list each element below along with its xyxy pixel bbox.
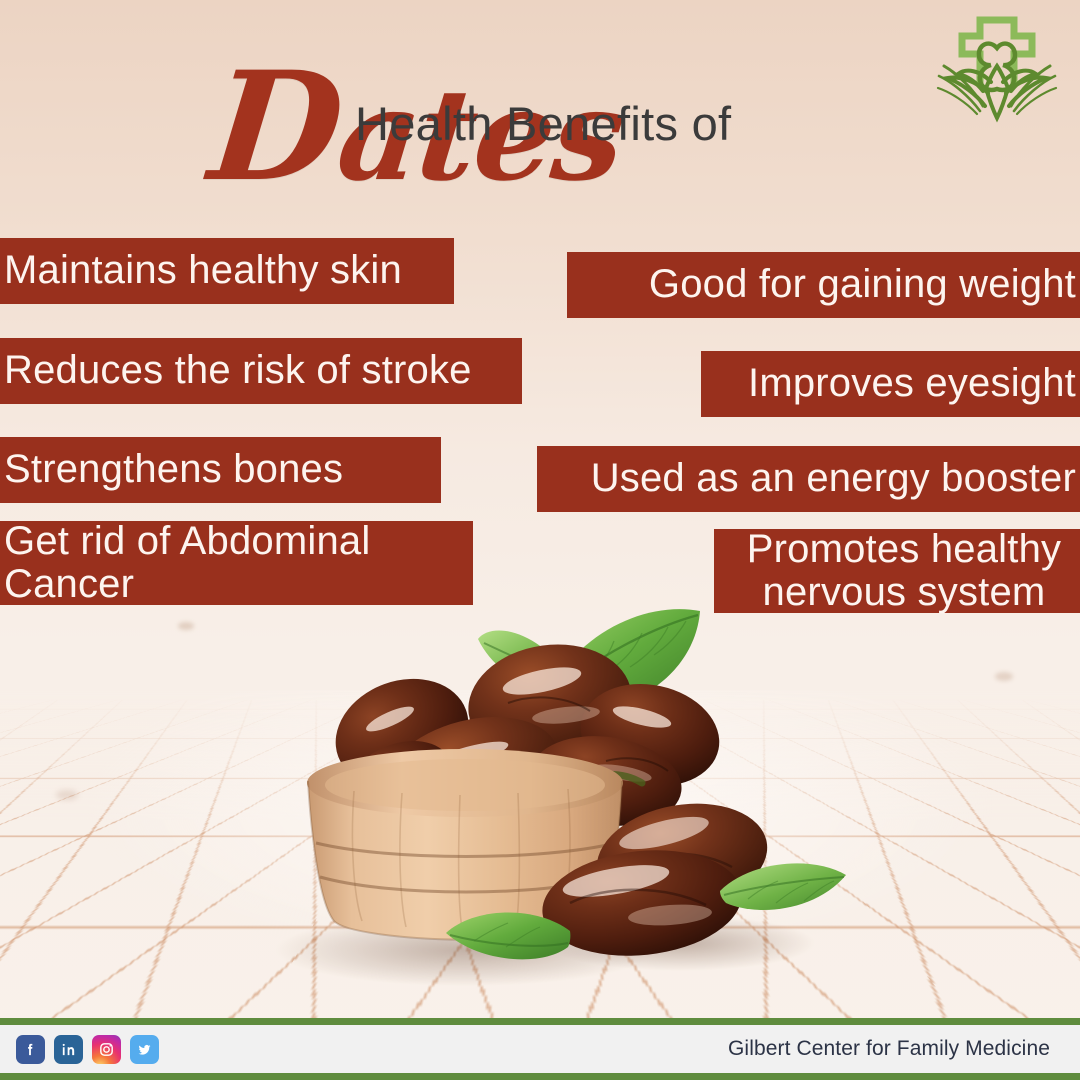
benefit-box-left-3: Strengthens bones	[0, 437, 441, 503]
dates-in-wooden-bowl-photo	[250, 585, 870, 1005]
social-links	[16, 1035, 159, 1064]
benefit-box-left-2: Reduces the risk of stroke	[0, 338, 522, 404]
benefit-box-right-3: Used as an energy booster	[537, 446, 1080, 512]
facebook-icon[interactable]	[16, 1035, 45, 1064]
footer-brand-name: Gilbert Center for Family Medicine	[728, 1037, 1050, 1061]
twitter-icon[interactable]	[130, 1035, 159, 1064]
background-speck-2	[995, 672, 1013, 681]
benefit-box-left-1: Maintains healthy skin	[0, 238, 454, 304]
background-speck-3	[56, 790, 78, 800]
title-subheading: Health Benefits of	[355, 96, 731, 151]
benefit-box-right-1: Good for gaining weight	[567, 252, 1080, 318]
background-speck-1	[178, 622, 194, 630]
instagram-icon[interactable]	[92, 1035, 121, 1064]
benefit-box-right-2: Improves eyesight	[701, 351, 1080, 417]
linkedin-icon[interactable]	[54, 1035, 83, 1064]
poster-title: Dates Health Benefits of	[0, 34, 1080, 209]
poster-canvas: Dates Health Benefits of Maintains healt…	[0, 0, 1080, 1080]
footer-bar: Gilbert Center for Family Medicine	[0, 1018, 1080, 1080]
title-script-capital: D	[203, 39, 350, 215]
